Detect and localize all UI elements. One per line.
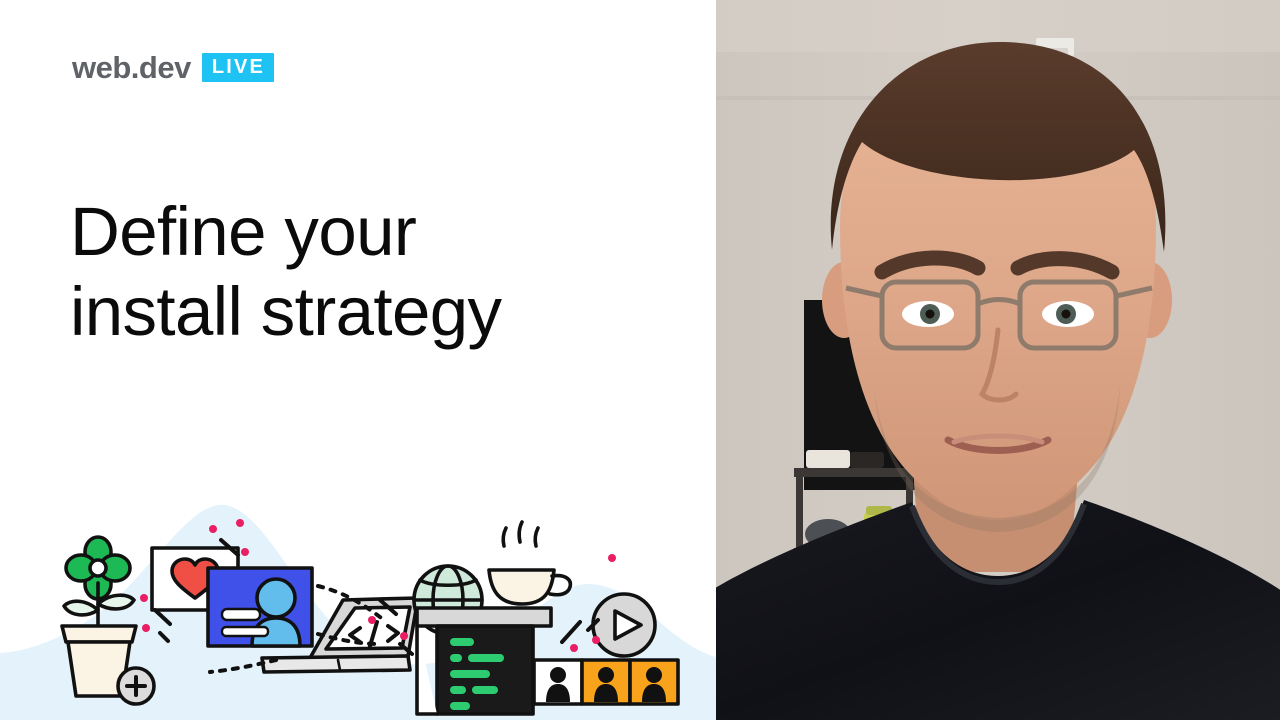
speaker-portrait [716, 0, 1280, 720]
play-button-icon [593, 594, 655, 656]
potted-flower-icon [62, 537, 154, 704]
speaker-video-feed [716, 0, 1280, 720]
people-tiles-icon [534, 660, 678, 704]
coffee-cup-icon [489, 522, 570, 604]
profile-card-icon [208, 568, 312, 646]
webdev-live-logo: web.dev LIVE [72, 52, 274, 83]
web-development-illustration [0, 490, 716, 720]
terminal-window-icon [417, 608, 551, 714]
presentation-screenshot: web.dev LIVE Define your install strateg… [0, 0, 1280, 720]
slide-panel: web.dev LIVE Define your install strateg… [0, 0, 716, 720]
logo-live-badge: LIVE [202, 53, 274, 82]
slide-title: Define your install strategy [70, 192, 670, 352]
logo-wordmark: web.dev [72, 52, 191, 83]
